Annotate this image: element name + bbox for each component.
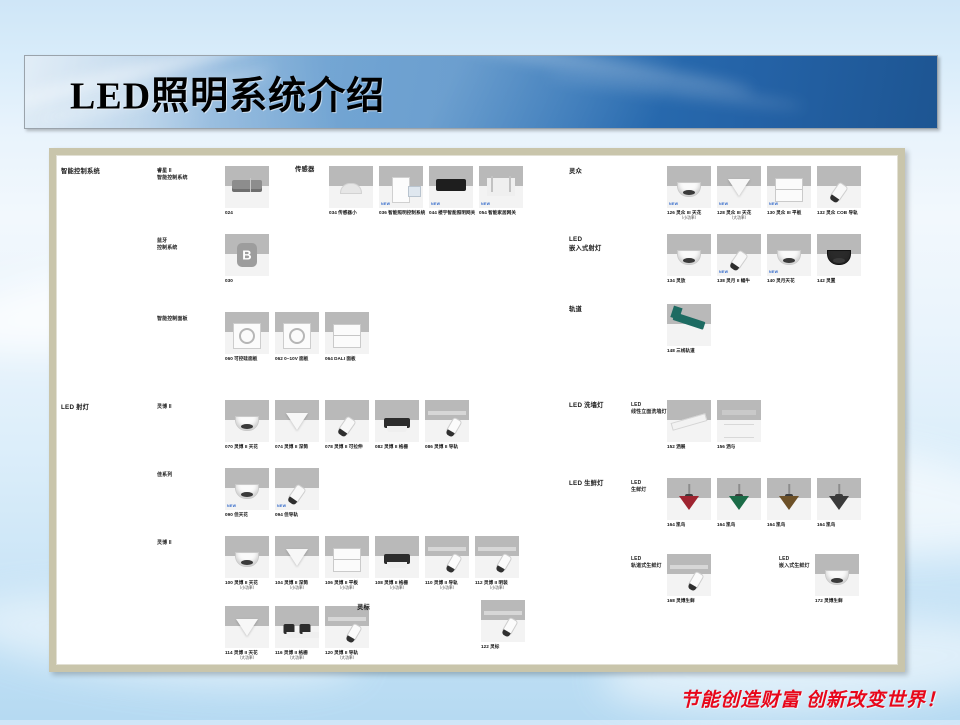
product-caption-sub: （大功率） [225,656,269,661]
product-thumbnail [667,478,711,520]
dark-downlight-icon [817,234,861,276]
flat-panel-icon [325,312,369,354]
catalog-sub-category: 睿星 II智能控制系统 [157,168,188,182]
catalog-item-row: 148 三线轨道 [667,304,711,354]
sub-category-line: 佳系列 [157,472,172,479]
sub-category-line: 灵博 II [157,404,172,411]
category-line: 智能控制系统 [61,168,100,177]
knob-panel-icon [225,312,269,354]
product-thumbnail [325,400,369,442]
category-line: LED [569,236,601,245]
sub-category-line: LED [779,556,810,563]
sub-category-line: 生鲜灯 [631,487,646,494]
catalog-main-category: 轨道 [569,306,582,315]
catalog-item: 110 灵博 II 导轨（小功率） [425,536,469,590]
sub-category-line: 嵌入式生鲜灯 [779,563,810,570]
product-caption-sub: （小功率） [325,586,369,591]
product-thumbnail [667,234,711,276]
spot-icon [325,400,369,442]
catalog-item: 142 灵置 [817,234,861,284]
cone-icon [275,400,319,442]
catalog-item: 120 灵博 II 导轨（大功率） [325,606,369,660]
product-caption: 138 灵月 II 幅牛 [717,278,761,284]
catalog-item: 104 灵博 II 深筒（小功率） [275,536,319,590]
category-line: 传感器 [295,166,315,175]
catalog-item: NEW090 佳天花 [225,468,269,518]
new-badge: NEW [381,202,390,206]
catalog-item: NEW036 智能照明控制系统 [379,166,423,216]
product-caption-sub: （小功率） [475,586,519,591]
new-badge: NEW [769,270,778,274]
product-thumbnail [815,554,859,596]
new-badge: NEW [719,202,728,206]
new-badge: NEW [227,504,236,508]
catalog-item-row: 168 灵博生鲜 [667,554,711,604]
catalog-item: 164 凯鸟 [767,478,811,528]
category-line: 灵众 [569,168,582,177]
catalog-item: 108 灵博 II 格栅（小功率） [375,536,419,590]
catalog-sub-category: 智能控制面板 [157,316,188,323]
product-caption-sub: （大功率） [717,216,761,221]
product-thumbnail [475,536,519,578]
catalog-item-row: 024 [225,166,269,216]
catalog-item: 164 凯鸟 [667,478,711,528]
gateway-icon [225,166,269,208]
catalog-item: NEW138 灵月 II 幅牛 [717,234,761,284]
catalog-right-column: 灵众NEW126 灵众 III 天花（小功率）NEW128 灵众 III 天花（… [557,156,898,664]
catalog-left-column: 智能控制系统睿星 II智能控制系统024蓝牙控制系统B030智能控制面板060 … [57,156,557,664]
sub-category-line: LED [631,402,667,409]
sub-category-line: 线性立面洗墙灯 [631,409,667,416]
product-caption-sub: （大功率） [275,656,319,661]
catalog-item-row: 172 灵博生鲜 [815,554,859,604]
product-thumbnail [817,166,861,208]
product-thumbnail [329,166,373,208]
catalog-item: NEW044 楼宇智能照明网关 [429,166,473,216]
catalog-item: 172 灵博生鲜 [815,554,859,604]
product-caption: 122 灵标 [481,644,525,650]
washer-icon [717,400,761,442]
product-thumbnail [425,536,469,578]
product-thumbnail: NEW [767,166,811,208]
product-thumbnail [275,606,319,648]
page-title: LED照明系统介绍 [70,65,385,120]
catalog-image-frame: 智能控制系统睿星 II智能控制系统024蓝牙控制系统B030智能控制面板060 … [49,148,905,672]
bluetooth-letter: B [242,248,251,263]
sub-category-line: LED [631,556,662,563]
catalog-item-row: NEW090 佳天花NEW094 佳导轨 [225,468,319,518]
catalog-item-row: 070 灵博 II 天花074 灵博 II 深筒078 灵博 II 可拉伸082… [225,400,469,450]
cone-icon [275,536,319,578]
catalog-item: 078 灵博 II 可拉伸 [325,400,369,450]
catalog-item-row: 060 可控硅面板062 0~10V 面板064 DALI 面板 [225,312,369,362]
catalog-item: 082 灵博 II 格栅 [375,400,419,450]
product-caption: 130 灵众 III 平板 [767,210,811,216]
product-thumbnail [481,600,525,642]
product-caption: 134 灵放 [667,278,711,284]
product-caption: 128 灵众 III 天花（大功率） [717,210,761,220]
slide-title-banner: LED照明系统介绍 [24,55,938,129]
product-caption: 104 灵博 II 深筒（小功率） [275,580,319,590]
catalog-item: NEW094 佳导轨 [275,468,319,518]
category-line: 嵌入式射灯 [569,245,601,254]
product-caption: 034 传感器小 [329,210,373,216]
product-thumbnail: NEW [275,468,319,510]
gateway-lines [250,178,263,192]
catalog-item-row: 152 洒展156 洒与 [667,400,761,450]
catalog-main-category: 传感器 [295,166,315,175]
sub-category-line: 控制系统 [157,245,177,252]
catalog-item: 062 0~10V 面板 [275,312,319,362]
catalog-item: 114 灵博 II 天花（大功率） [225,606,269,660]
catalog-sheet: 智能控制系统睿星 II智能控制系统024蓝牙控制系统B030智能控制面板060 … [56,155,898,665]
product-caption: 156 洒与 [717,444,761,450]
product-caption: 120 灵博 II 导轨（大功率） [325,650,369,660]
product-caption: 106 灵博 II 平板（小功率） [325,580,369,590]
product-caption: 164 凯鸟 [817,522,861,528]
product-thumbnail: B [225,234,269,276]
catalog-item: 034 传感器小 [329,166,373,216]
product-caption: 024 [225,210,269,216]
sub-category-line: 轨道式生鲜灯 [631,563,662,570]
product-caption: 116 灵博 II 格栅（大功率） [275,650,319,660]
sub-category-line: LED [631,480,646,487]
catalog-item: 024 [225,166,269,216]
pendant-bronze-icon [767,478,811,520]
product-thumbnail: NEW [379,166,423,208]
product-caption: 086 灵博 II 导轨 [425,444,469,450]
product-caption: 030 [225,278,269,284]
category-line: LED 洗墙灯 [569,402,604,411]
product-caption: 164 凯鸟 [767,522,811,528]
product-caption-sub: （小功率） [225,586,269,591]
new-badge: NEW [769,202,778,206]
new-badge: NEW [669,202,678,206]
catalog-main-category: 灵众 [569,168,582,177]
track-spot-icon [425,536,469,578]
catalog-item: 164 凯鸟 [817,478,861,528]
catalog-item-row: B030 [225,234,269,284]
track-spot-icon [475,536,519,578]
catalog-main-category: LED 洗墙灯 [569,402,604,411]
sensor-icon [329,166,373,208]
spot-icon [817,166,861,208]
new-badge: NEW [719,270,728,274]
catalog-item: 132 灵众 COB 导轨 [817,166,861,216]
category-line: 灵标 [357,604,370,613]
catalog-item-row: 134 灵放NEW138 灵月 II 幅牛NEW140 灵月天花142 灵置 [667,234,861,284]
downlight-icon [815,554,859,596]
pendant-green-icon [717,478,761,520]
product-thumbnail: NEW [667,166,711,208]
catalog-item-row: 100 灵博 II 天花（小功率）104 灵博 II 深筒（小功率）106 灵博… [225,536,519,590]
product-thumbnail [225,536,269,578]
product-thumbnail [275,312,319,354]
catalog-item: 164 凯鸟 [717,478,761,528]
catalog-item-row: 122 灵标 [481,600,525,650]
new-badge: NEW [277,504,286,508]
category-line: LED 生鲜灯 [569,480,604,489]
product-caption: 164 凯鸟 [667,522,711,528]
catalog-item: 156 洒与 [717,400,761,450]
product-thumbnail [225,400,269,442]
product-caption: 062 0~10V 面板 [275,356,319,362]
downlight-icon [225,536,269,578]
product-thumbnail: NEW [717,166,761,208]
product-thumbnail [667,304,711,346]
catalog-item: 116 灵博 II 格栅（大功率） [275,606,319,660]
product-caption: 060 可控硅面板 [225,356,269,362]
product-thumbnail: NEW [717,234,761,276]
grille-icon [375,536,419,578]
bluetooth-icon: B [225,234,269,276]
product-caption: 172 灵博生鲜 [815,598,859,604]
panel-icon [325,536,369,578]
catalog-item: 106 灵博 II 平板（小功率） [325,536,369,590]
product-thumbnail [717,400,761,442]
product-caption-sub: （小功率） [275,586,319,591]
product-caption: 078 灵博 II 可拉伸 [325,444,369,450]
catalog-main-category: 智能控制系统 [61,168,100,177]
product-caption: 090 佳天花 [225,512,269,518]
catalog-item: 122 灵标 [481,600,525,650]
catalog-main-category: LED 射灯 [61,404,89,413]
catalog-item: 134 灵放 [667,234,711,284]
catalog-item: NEW140 灵月天花 [767,234,811,284]
product-caption-sub: （小功率） [375,586,419,591]
product-caption: 036 智能照明控制系统 [379,210,423,216]
product-thumbnail [325,536,369,578]
catalog-item-row: 034 传感器小NEW036 智能照明控制系统NEW044 楼宇智能照明网关NE… [329,166,523,216]
product-caption: 114 灵博 II 天花（大功率） [225,650,269,660]
product-caption-sub: （小功率） [425,586,469,591]
product-thumbnail [817,478,861,520]
product-caption: 112 灵博 II 明装（小功率） [475,580,519,590]
catalog-item: 152 洒展 [667,400,711,450]
product-caption-sub: （大功率） [325,656,369,661]
product-thumbnail [375,400,419,442]
product-caption: 100 灵博 II 天花（小功率） [225,580,269,590]
grille-icon [375,400,419,442]
product-caption: 044 楼宇智能照明网关 [429,210,473,216]
track-spot-icon [481,600,525,642]
product-thumbnail [225,166,269,208]
catalog-item: B030 [225,234,269,284]
product-thumbnail: NEW [767,234,811,276]
product-caption: 164 凯鸟 [717,522,761,528]
downlight-icon [225,400,269,442]
catalog-item: NEW054 智能家居网关 [479,166,523,216]
twin-grille-icon [275,606,319,648]
product-caption: 110 灵博 II 导轨（小功率） [425,580,469,590]
product-thumbnail [667,554,711,596]
catalog-item: 100 灵博 II 天花（小功率） [225,536,269,590]
product-caption: 152 洒展 [667,444,711,450]
catalog-sub-category: LED线性立面洗墙灯 [631,402,667,416]
category-line: LED 射灯 [61,404,89,413]
catalog-item: 070 灵博 II 天花 [225,400,269,450]
product-thumbnail [225,312,269,354]
rail-icon [667,304,711,346]
catalog-item: 086 灵博 II 导轨 [425,400,469,450]
track-spot-icon [667,554,711,596]
catalog-item: 148 三线轨道 [667,304,711,354]
catalog-item: 074 灵博 II 深筒 [275,400,319,450]
product-thumbnail [325,312,369,354]
product-thumbnail [425,400,469,442]
catalog-main-category: LED嵌入式射灯 [569,236,601,253]
product-caption: 126 灵众 III 天花（小功率） [667,210,711,220]
catalog-item-row: 114 灵博 II 天花（大功率）116 灵博 II 格栅（大功率）120 灵博… [225,606,369,660]
product-thumbnail [275,400,319,442]
product-caption: 082 灵博 II 格栅 [375,444,419,450]
catalog-main-category: LED 生鲜灯 [569,480,604,489]
product-caption: 064 DALI 面板 [325,356,369,362]
track-spot-icon [425,400,469,442]
product-caption: 168 灵博生鲜 [667,598,711,604]
product-thumbnail [375,536,419,578]
product-thumbnail [817,234,861,276]
downlight-icon [667,234,711,276]
knob-panel-icon [275,312,319,354]
product-caption: 148 三线轨道 [667,348,711,354]
product-caption: 074 灵博 II 深筒 [275,444,319,450]
product-caption-sub: （小功率） [667,216,711,221]
product-caption: 094 佳导轨 [275,512,319,518]
catalog-item-row: 164 凯鸟164 凯鸟164 凯鸟164 凯鸟 [667,478,861,528]
catalog-sub-category: 佳系列 [157,472,172,479]
product-caption: 108 灵博 II 格栅（小功率） [375,580,419,590]
catalog-sub-category: 蓝牙控制系统 [157,238,177,252]
product-thumbnail [667,400,711,442]
catalog-item: 168 灵博生鲜 [667,554,711,604]
product-caption: 132 灵众 COB 导轨 [817,210,861,216]
pendant-red-icon [667,478,711,520]
sub-category-line: 智能控制系统 [157,175,188,182]
catalog-item: 064 DALI 面板 [325,312,369,362]
catalog-item: 060 可控硅面板 [225,312,269,362]
catalog-item-row: NEW126 灵众 III 天花（小功率）NEW128 灵众 III 天花（大功… [667,166,861,220]
product-caption: 070 灵博 II 天花 [225,444,269,450]
product-thumbnail: NEW [429,166,473,208]
cone-icon [225,606,269,648]
catalog-item: NEW126 灵众 III 天花（小功率） [667,166,711,220]
catalog-sub-category: 灵博 II [157,404,172,411]
footer-slogan: 节能创造财富 创新改变世界！ [680,685,946,712]
catalog-main-category: 灵标 [357,604,370,613]
catalog-item: 112 灵博 II 明装（小功率） [475,536,519,590]
sub-category-line: 蓝牙 [157,238,177,245]
category-line: 轨道 [569,306,582,315]
product-thumbnail [225,606,269,648]
product-thumbnail [767,478,811,520]
product-caption: 142 灵置 [817,278,861,284]
pendant-dark-icon [817,478,861,520]
product-thumbnail: NEW [225,468,269,510]
new-badge: NEW [481,202,490,206]
catalog-item: NEW128 灵众 III 天花（大功率） [717,166,761,220]
catalog-sub-category: 灵博 II [157,540,172,547]
catalog-sub-category: LED嵌入式生鲜灯 [779,556,810,570]
linear-icon [667,400,711,442]
product-caption: 140 灵月天花 [767,278,811,284]
product-thumbnail: NEW [479,166,523,208]
catalog-sub-category: LED轨道式生鲜灯 [631,556,662,570]
product-thumbnail [275,536,319,578]
sub-category-line: 智能控制面板 [157,316,188,323]
product-thumbnail [717,478,761,520]
new-badge: NEW [431,202,440,206]
catalog-sub-category: LED生鲜灯 [631,480,646,494]
sub-category-line: 睿星 II [157,168,188,175]
catalog-item: NEW130 灵众 III 平板 [767,166,811,216]
product-caption: 054 智能家居网关 [479,210,523,216]
sub-category-line: 灵博 II [157,540,172,547]
